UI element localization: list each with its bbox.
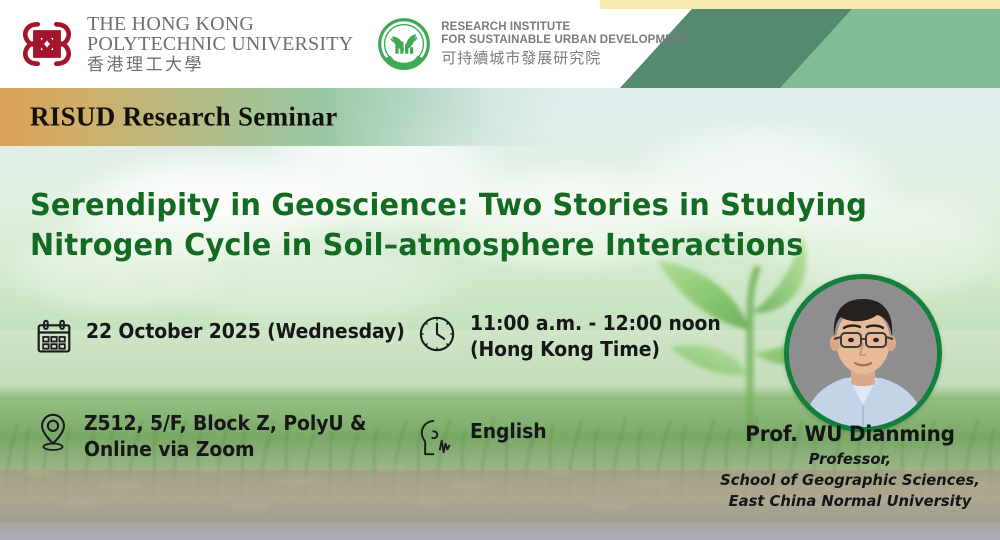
risud-line2: FOR SUSTAINABLE URBAN DEVELOPMENT xyxy=(441,34,688,47)
speaker-affiliation-line3: East China Normal University xyxy=(708,491,993,512)
detail-text-language: English xyxy=(470,418,546,444)
detail-text-date: 22 October 2025 (Wednesday) xyxy=(86,318,405,344)
polyu-logo: THE HONG KONG POLYTECHNIC UNIVERSITY 香港理… xyxy=(18,14,353,74)
detail-row-date: 22 October 2025 (Wednesday) xyxy=(36,318,425,355)
polyu-wordmark: THE HONG KONG POLYTECHNIC UNIVERSITY 香港理… xyxy=(87,14,353,74)
poster-header: THE HONG KONG POLYTECHNIC UNIVERSITY 香港理… xyxy=(0,0,1000,88)
seminar-poster: THE HONG KONG POLYTECHNIC UNIVERSITY 香港理… xyxy=(0,0,1000,540)
risud-logo-label: RISUD xyxy=(393,56,415,63)
detail-venue-line2: Online via Zoom xyxy=(84,436,366,462)
risud-logo: RISUD RESEARCH INSTITUTE FOR SUSTAINABLE… xyxy=(377,17,688,71)
risud-line1: RESEARCH INSTITUTE xyxy=(441,21,688,34)
detail-language-line1: English xyxy=(470,418,546,444)
speaker-portrait xyxy=(784,274,942,432)
speaker-info: Prof. WU Dianming Professor, School of G… xyxy=(700,422,1000,511)
speaker-portrait-photo xyxy=(789,279,937,427)
polyu-knot-logo-icon xyxy=(18,15,76,73)
detail-text-venue: Z512, 5/F, Block Z, PolyU & Online via Z… xyxy=(84,410,366,463)
detail-time-line2: (Hong Kong Time) xyxy=(470,336,721,362)
polyu-line1: THE HONG KONG xyxy=(87,14,353,34)
risud-wordmark: RESEARCH INSTITUTE FOR SUSTAINABLE URBAN… xyxy=(441,21,688,67)
polyu-chinese: 香港理工大學 xyxy=(87,57,353,74)
detail-time-line1: 11:00 a.m. - 12:00 noon xyxy=(470,310,721,336)
page-title-line2: Nitrogen Cycle in Soil–atmosphere Intera… xyxy=(30,226,875,266)
speaking-head-icon xyxy=(418,418,456,458)
logo-group: THE HONG KONG POLYTECHNIC UNIVERSITY 香港理… xyxy=(18,14,688,74)
risud-chinese: 可持續城市發展研究院 xyxy=(441,50,688,67)
detail-row-venue: Z512, 5/F, Block Z, PolyU & Online via Z… xyxy=(36,410,384,463)
detail-venue-line1: Z512, 5/F, Block Z, PolyU & xyxy=(84,410,366,436)
speaker-affiliation: Professor, School of Geographic Sciences… xyxy=(708,449,993,511)
clock-icon xyxy=(418,315,456,353)
speaker-affiliation-line1: Professor, xyxy=(708,449,993,470)
seminar-banner-title: RISUD Research Seminar xyxy=(30,102,338,133)
location-pin-icon xyxy=(36,412,70,452)
polyu-line2: POLYTECHNIC UNIVERSITY xyxy=(87,34,353,54)
speaker-name: Prof. WU Dianming xyxy=(708,422,993,447)
seminar-banner: RISUD Research Seminar xyxy=(0,88,560,146)
detail-row-language: English xyxy=(418,418,551,458)
detail-text-time: 11:00 a.m. - 12:00 noon (Hong Kong Time) xyxy=(470,310,721,363)
page-title-line1: Serendipity in Geoscience: Two Stories i… xyxy=(30,186,875,226)
page-title: Serendipity in Geoscience: Two Stories i… xyxy=(30,186,875,265)
detail-date-line1: 22 October 2025 (Wednesday) xyxy=(86,318,405,344)
speaker-affiliation-line2: School of Geographic Sciences, xyxy=(708,470,993,491)
calendar-icon xyxy=(36,319,72,355)
risud-circular-logo-icon: RISUD xyxy=(377,17,431,71)
detail-row-time: 11:00 a.m. - 12:00 noon (Hong Kong Time) xyxy=(418,310,737,363)
